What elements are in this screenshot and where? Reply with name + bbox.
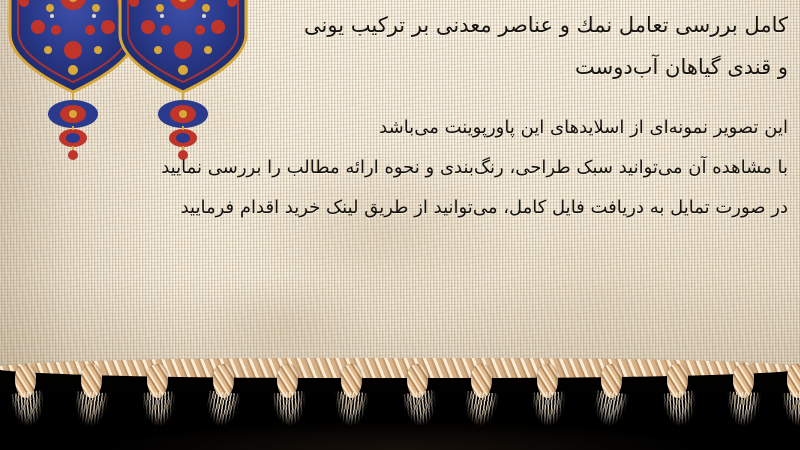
slide-body-text: این تصویر نمونه‌ای از اسلایدهای این پاور…	[98, 108, 788, 228]
body-line-2: با مشاهده آن می‌توانید سبک طراحی، رنگ‌بن…	[98, 148, 788, 188]
body-line-3: در صورت تمایل به دریافت فایل کامل، می‌تو…	[98, 188, 788, 228]
body-line-1: این تصویر نمونه‌ای از اسلایدهای این پاور…	[98, 108, 788, 148]
slide-title-line-1: کامل بررسی تعامل نمك و عناصر معدنی بر تر…	[304, 13, 788, 37]
presentation-slide: کامل بررسی تعامل نمك و عناصر معدنی بر تر…	[0, 0, 800, 450]
slide-title: کامل بررسی تعامل نمك و عناصر معدنی بر تر…	[128, 4, 788, 88]
slide-title-line-2: و قندی گیاهان آب‌دوست	[128, 46, 788, 88]
slide-text-layer: کامل بررسی تعامل نمك و عناصر معدنی بر تر…	[0, 0, 800, 450]
